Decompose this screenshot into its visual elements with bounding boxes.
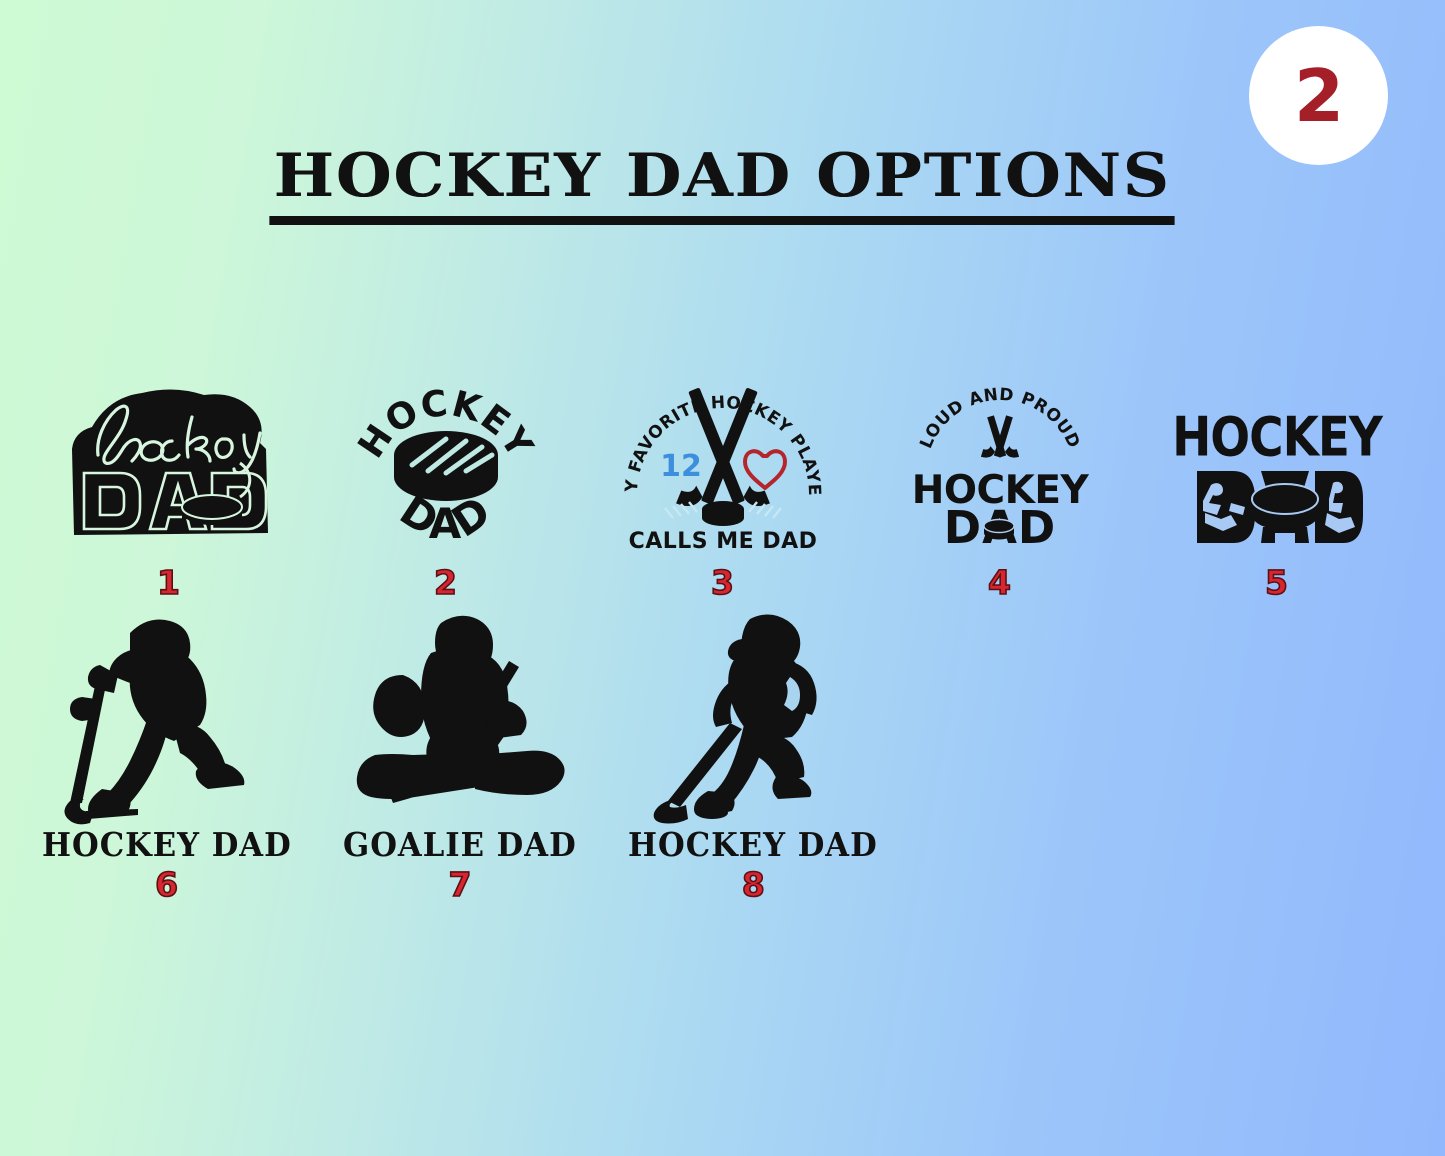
- skating-player-silhouette: [654, 614, 817, 823]
- option-8[interactable]: HOCKEY DAD 8: [628, 600, 878, 901]
- option-3[interactable]: 12 MY FAVORITE HOCKEY PLAYER CALLS ME DA…: [598, 372, 848, 599]
- option-8-caption: HOCKEY DAD: [638, 824, 868, 866]
- option-2[interactable]: HOCKEY D: [321, 372, 571, 599]
- page-title: HOCKEY DAD OPTIONS: [270, 146, 1176, 225]
- option-5-number: 5: [1265, 566, 1288, 599]
- loud-and-proud-hockey-dad-icon: LOUD AND PROUD HOCKEY: [910, 387, 1090, 552]
- crossed-sticks-small-icon: [980, 412, 1018, 463]
- option-5[interactable]: HOCKEY: [1152, 372, 1402, 599]
- option-8-artwork: [638, 600, 868, 830]
- option-6-caption-wrap: HOCKEY DAD: [52, 824, 282, 866]
- heart-icon: [745, 451, 785, 488]
- hockey-dad-skater-silhouette-icon: [52, 605, 282, 830]
- option-4-number: 4: [988, 566, 1011, 599]
- option-6-label: HOCKEY DAD: [42, 826, 292, 864]
- puck-in-letter-a-icon: [984, 520, 1014, 540]
- options-row-1: 1 HOCKEY: [0, 372, 1445, 599]
- option-8-number: 8: [742, 868, 765, 901]
- jersey-number: 12: [660, 449, 702, 484]
- hockey-dad-script-varsity-icon: [54, 377, 284, 552]
- page-number-badge-label: 2: [1294, 60, 1343, 132]
- option-6[interactable]: HOCKEY DAD 6: [42, 600, 292, 901]
- option-5-artwork: HOCKEY: [1187, 372, 1367, 552]
- option-7-caption: GOALIE DAD: [345, 824, 575, 866]
- page-title-container: HOCKEY DAD OPTIONS: [0, 146, 1445, 225]
- hockey-word: HOCKEY: [1172, 405, 1384, 468]
- striped-hockey-puck-icon: [394, 431, 498, 501]
- bottom-text: CALLS ME DAD: [628, 529, 817, 554]
- option-1-number: 1: [157, 566, 180, 599]
- option-3-artwork: 12 MY FAVORITE HOCKEY PLAYER CALLS ME DA…: [623, 372, 823, 552]
- design-sheet: 2 HOCKEY DAD OPTIONS: [0, 0, 1445, 1156]
- option-8-label: HOCKEY DAD: [628, 826, 878, 864]
- option-1[interactable]: 1: [44, 372, 294, 599]
- option-3-number: 3: [711, 566, 734, 599]
- option-7-caption-wrap: GOALIE DAD: [345, 824, 575, 866]
- option-6-number: 6: [155, 868, 178, 901]
- skating-player-silhouette: [64, 620, 244, 825]
- option-6-caption: HOCKEY DAD: [52, 824, 282, 866]
- option-2-artwork: HOCKEY D: [358, 372, 533, 552]
- hockey-dad-skater-with-puck-icon: [638, 605, 868, 830]
- goalie-butterfly-silhouette: [357, 616, 565, 803]
- puck-as-letter-a-icon: [1252, 484, 1318, 530]
- option-7-artwork: [345, 600, 575, 830]
- hockey-dad-arched-puck-icon: HOCKEY D: [358, 377, 533, 552]
- option-4-artwork: LOUD AND PROUD HOCKEY: [910, 372, 1090, 552]
- hockey-puck-icon: [702, 501, 744, 526]
- option-1-artwork: [54, 372, 284, 552]
- option-8-caption-wrap: HOCKEY DAD: [638, 824, 868, 866]
- hockey-dad-player-silhouette-letters-icon: HOCKEY: [1187, 387, 1367, 552]
- options-row-2: HOCKEY DAD 6: [20, 600, 900, 901]
- my-favorite-hockey-player-calls-me-dad-icon: 12 MY FAVORITE HOCKEY PLAYER CALLS ME DA…: [623, 372, 823, 552]
- option-7-label: GOALIE DAD: [343, 826, 577, 864]
- goalie-butterfly-silhouette-icon: [345, 605, 575, 830]
- option-2-number: 2: [434, 566, 457, 599]
- option-4[interactable]: LOUD AND PROUD HOCKEY: [875, 372, 1125, 599]
- hockey-puck-icon: [182, 495, 242, 525]
- option-7-number: 7: [449, 868, 472, 901]
- page-number-badge: 2: [1249, 26, 1388, 165]
- option-7[interactable]: GOALIE DAD 7: [335, 600, 585, 901]
- option-6-artwork: [52, 600, 282, 830]
